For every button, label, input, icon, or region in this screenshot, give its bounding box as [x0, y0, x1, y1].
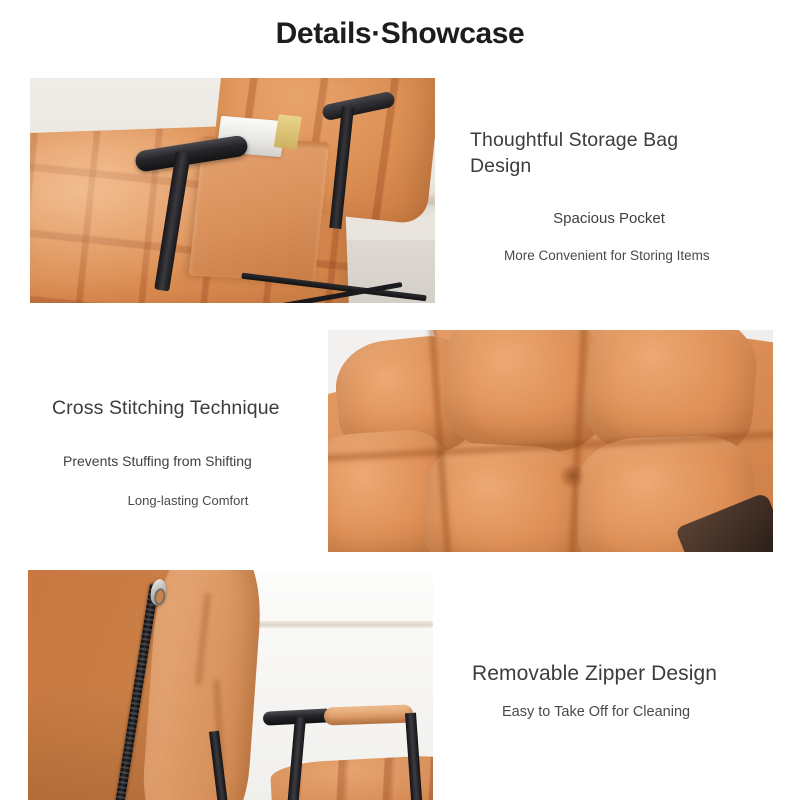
zipper-heading: Removable Zipper Design — [472, 660, 772, 688]
product-photo-removable-zipper[interactable] — [28, 570, 433, 800]
text-block-storage-bag: Thoughtful Storage Bag Design Spacious P… — [470, 128, 720, 266]
zipper-body: Easy to Take Off for Cleaning — [472, 702, 772, 722]
stitch-body: Long-lasting Comfort — [52, 492, 332, 510]
storage-subheading: Spacious Pocket — [470, 209, 720, 229]
product-photo-storage-bag[interactable] — [30, 78, 435, 303]
pocket-item-gold — [273, 114, 301, 150]
storage-heading: Thoughtful Storage Bag Design — [470, 128, 720, 179]
stitch-heading: Cross Stitching Technique — [52, 396, 332, 422]
chair-armrest-leather-pad — [323, 704, 413, 725]
text-block-removable-zipper: Removable Zipper Design Easy to Take Off… — [472, 660, 772, 722]
product-photo-cross-stitching[interactable] — [328, 330, 773, 552]
storage-body: More Convenient for Storing Items — [470, 247, 720, 266]
stitch-subheading: Prevents Stuffing from Shifting — [52, 452, 332, 471]
text-block-cross-stitching: Cross Stitching Technique Prevents Stuff… — [52, 396, 332, 510]
page-title: Details·Showcase — [0, 17, 800, 51]
